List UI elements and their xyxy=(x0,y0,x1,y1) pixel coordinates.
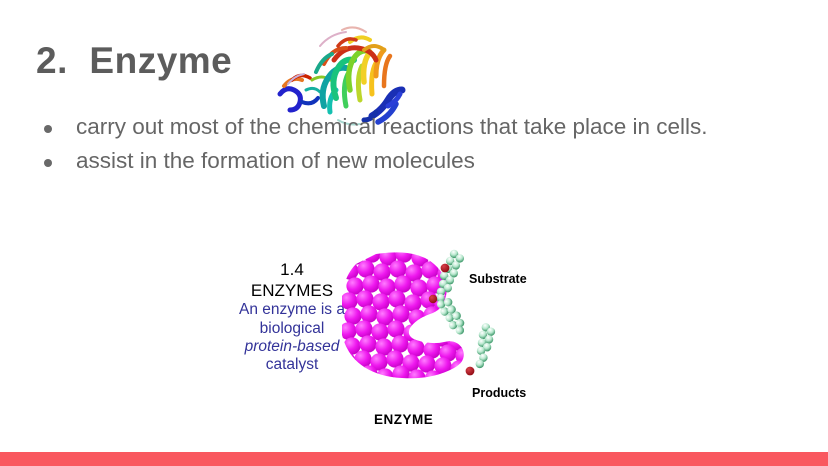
bullet-dot-icon xyxy=(44,159,52,167)
figure-desc-line-1: An enzyme is a xyxy=(239,301,345,318)
bottom-accent-bar xyxy=(0,452,828,466)
label-substrate: Substrate xyxy=(469,272,527,286)
substrate-molecule-bound xyxy=(435,295,470,338)
bullet-list: carry out most of the chemical reactions… xyxy=(36,112,806,180)
bullet-dot-icon xyxy=(44,125,52,133)
substrate-dot-top xyxy=(441,264,450,273)
bullet-text: carry out most of the chemical reactions… xyxy=(76,112,708,142)
product-dot xyxy=(466,367,475,376)
slide-canvas: 2. Enzyme xyxy=(0,0,828,466)
page-title: 2. Enzyme xyxy=(36,42,232,79)
list-item: carry out most of the chemical reactions… xyxy=(36,112,806,142)
label-products: Products xyxy=(472,386,526,400)
product-molecule xyxy=(471,322,497,370)
figure-desc-line-2: biological xyxy=(260,320,325,337)
list-item: assist in the formation of new molecules xyxy=(36,146,806,176)
figure-desc-line-3-italic: protein-based xyxy=(245,338,340,355)
label-enzyme: ENZYME xyxy=(374,412,433,427)
slide-title-row: 2. Enzyme xyxy=(36,36,456,116)
figure-heading: ENZYMES xyxy=(222,281,362,302)
figure-caption-block: 1.4 ENZYMES An enzyme is a biological pr… xyxy=(222,260,362,375)
figure-description: An enzyme is a biological protein-based … xyxy=(222,301,362,374)
bullet-text: assist in the formation of new molecules xyxy=(76,146,475,176)
substrate-dot-middle xyxy=(429,295,437,303)
figure-number: 1.4 xyxy=(222,260,362,281)
enzyme-figure: 1.4 ENZYMES An enzyme is a biological pr… xyxy=(222,246,574,436)
figure-desc-line-4: catalyst xyxy=(266,356,319,373)
